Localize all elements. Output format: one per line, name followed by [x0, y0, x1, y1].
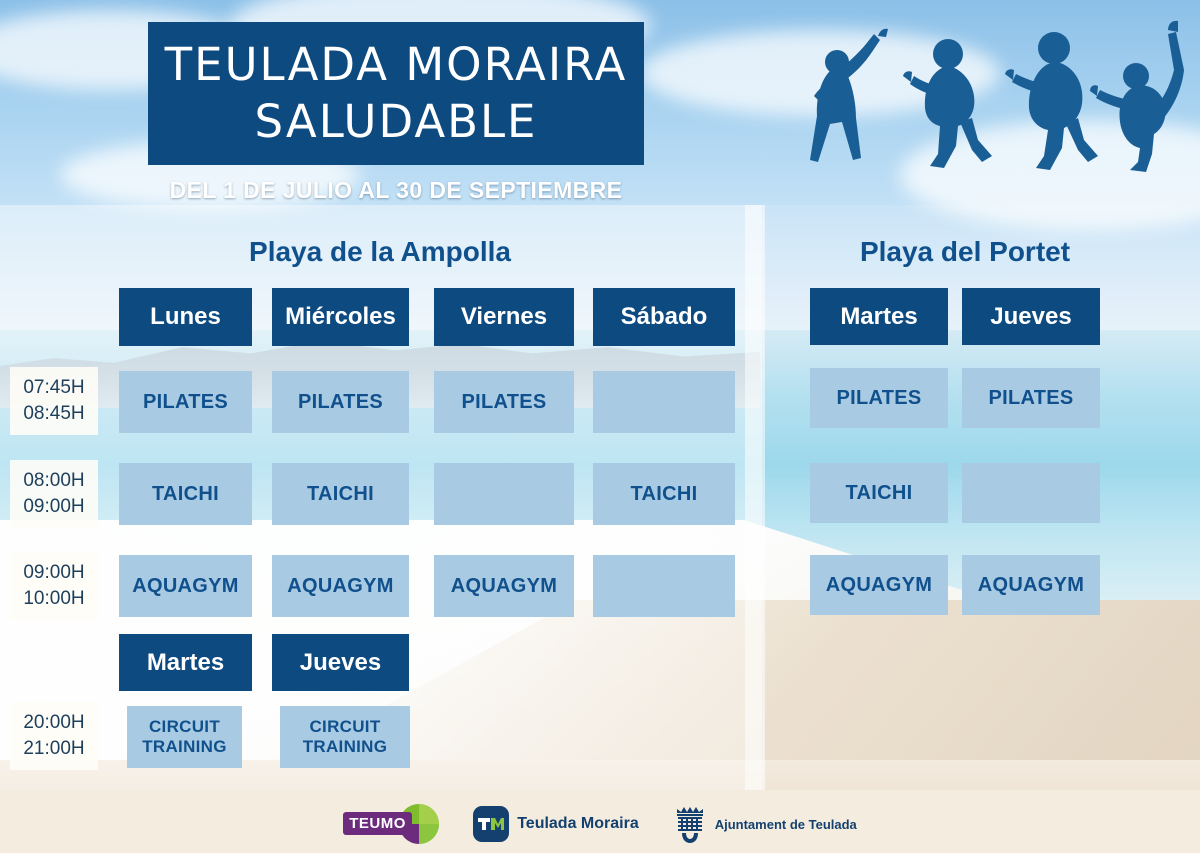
- left-time-1: 08:00H 09:00H: [10, 460, 98, 528]
- time-start: 07:45H: [23, 375, 84, 401]
- date-range-subtitle: DEL 1 DE JULIO AL 30 DE SEPTIEMBRE: [148, 177, 644, 204]
- right-panel-title: Playa del Portet: [800, 236, 1130, 268]
- logo-teulada-moraira[interactable]: Teulada Moraira: [473, 806, 639, 842]
- tai-chi-icon: [903, 39, 992, 168]
- left-evening-day-header-1[interactable]: Jueves: [272, 634, 409, 691]
- left-panel-title: Playa de la Ampolla: [110, 236, 650, 268]
- time-start: 08:00H: [23, 468, 84, 494]
- left-time-0: 07:45H 08:45H: [10, 367, 98, 435]
- left-slot-r2c2[interactable]: AQUAGYM: [434, 555, 574, 617]
- left-slot-r0c2[interactable]: PILATES: [434, 371, 574, 433]
- tai-chi-icon: [1005, 32, 1098, 170]
- time-end: 10:00H: [23, 586, 84, 612]
- footer-logos: TEUMO Teulada Moraira: [0, 795, 1200, 853]
- time-end: 21:00H: [23, 736, 84, 762]
- left-evening-slot-c0[interactable]: CIRCUIT TRAINING: [127, 706, 242, 768]
- left-slot-r0c3[interactable]: [593, 371, 735, 433]
- time-end: 09:00H: [23, 494, 84, 520]
- left-slot-r2c1[interactable]: AQUAGYM: [272, 555, 409, 617]
- left-time-2: 09:00H 10:00H: [10, 552, 98, 620]
- right-slot-r2c1[interactable]: AQUAGYM: [962, 555, 1100, 615]
- athletes-svg: [790, 14, 1190, 192]
- left-slot-r2c3[interactable]: [593, 555, 735, 617]
- teumo-mark: TEUMO: [343, 804, 439, 844]
- time-end: 08:45H: [23, 401, 84, 427]
- teumo-wordmark: TEUMO: [343, 812, 412, 835]
- left-day-header-1[interactable]: Miércoles: [272, 288, 409, 346]
- left-slot-r0c1[interactable]: PILATES: [272, 371, 409, 433]
- logo-ajuntament[interactable]: Ajuntament de Teulada: [673, 804, 857, 844]
- right-day-header-0[interactable]: Martes: [810, 288, 948, 345]
- left-evening-day-header-0[interactable]: Martes: [119, 634, 252, 691]
- time-start: 09:00H: [23, 560, 84, 586]
- right-slot-r1c1[interactable]: [962, 463, 1100, 523]
- panel-divider: [745, 205, 765, 790]
- tm-badge-icon: [473, 806, 509, 842]
- left-day-header-3[interactable]: Sábado: [593, 288, 735, 346]
- right-slot-r1c0[interactable]: TAICHI: [810, 463, 948, 523]
- side-stretch-icon: [810, 29, 888, 162]
- right-slot-r0c0[interactable]: PILATES: [810, 368, 948, 428]
- teulada-moraira-label: Teulada Moraira: [517, 815, 639, 833]
- left-slot-r1c1[interactable]: TAICHI: [272, 463, 409, 525]
- ajuntament-label: Ajuntament de Teulada: [715, 817, 857, 832]
- left-day-header-2[interactable]: Viernes: [434, 288, 574, 346]
- left-evening-time-0: 20:00H 21:00H: [10, 702, 98, 770]
- athlete-silhouettes: [790, 14, 1190, 192]
- left-slot-r0c0[interactable]: PILATES: [119, 371, 252, 433]
- time-start: 20:00H: [23, 710, 84, 736]
- poster-root: TEULADA MORAIRA SALUDABLE DEL 1 DE JULIO…: [0, 0, 1200, 853]
- yoga-dancer-icon: [1090, 21, 1184, 172]
- right-slot-r2c0[interactable]: AQUAGYM: [810, 555, 948, 615]
- left-slot-r1c2[interactable]: [434, 463, 574, 525]
- title-line-2: SALUDABLE: [255, 94, 538, 150]
- left-evening-slot-c1[interactable]: CIRCUIT TRAINING: [280, 706, 410, 768]
- coat-of-arms-icon: [673, 804, 707, 844]
- title-banner: TEULADA MORAIRA SALUDABLE: [148, 22, 644, 165]
- right-day-header-1[interactable]: Jueves: [962, 288, 1100, 345]
- right-slot-r0c1[interactable]: PILATES: [962, 368, 1100, 428]
- left-slot-r2c0[interactable]: AQUAGYM: [119, 555, 252, 617]
- left-day-header-0[interactable]: Lunes: [119, 288, 252, 346]
- left-slot-r1c0[interactable]: TAICHI: [119, 463, 252, 525]
- title-line-1: TEULADA MORAIRA: [165, 37, 628, 93]
- left-slot-r1c3[interactable]: TAICHI: [593, 463, 735, 525]
- tm-monogram-icon: [478, 816, 504, 832]
- logo-teumo[interactable]: TEUMO: [343, 804, 439, 844]
